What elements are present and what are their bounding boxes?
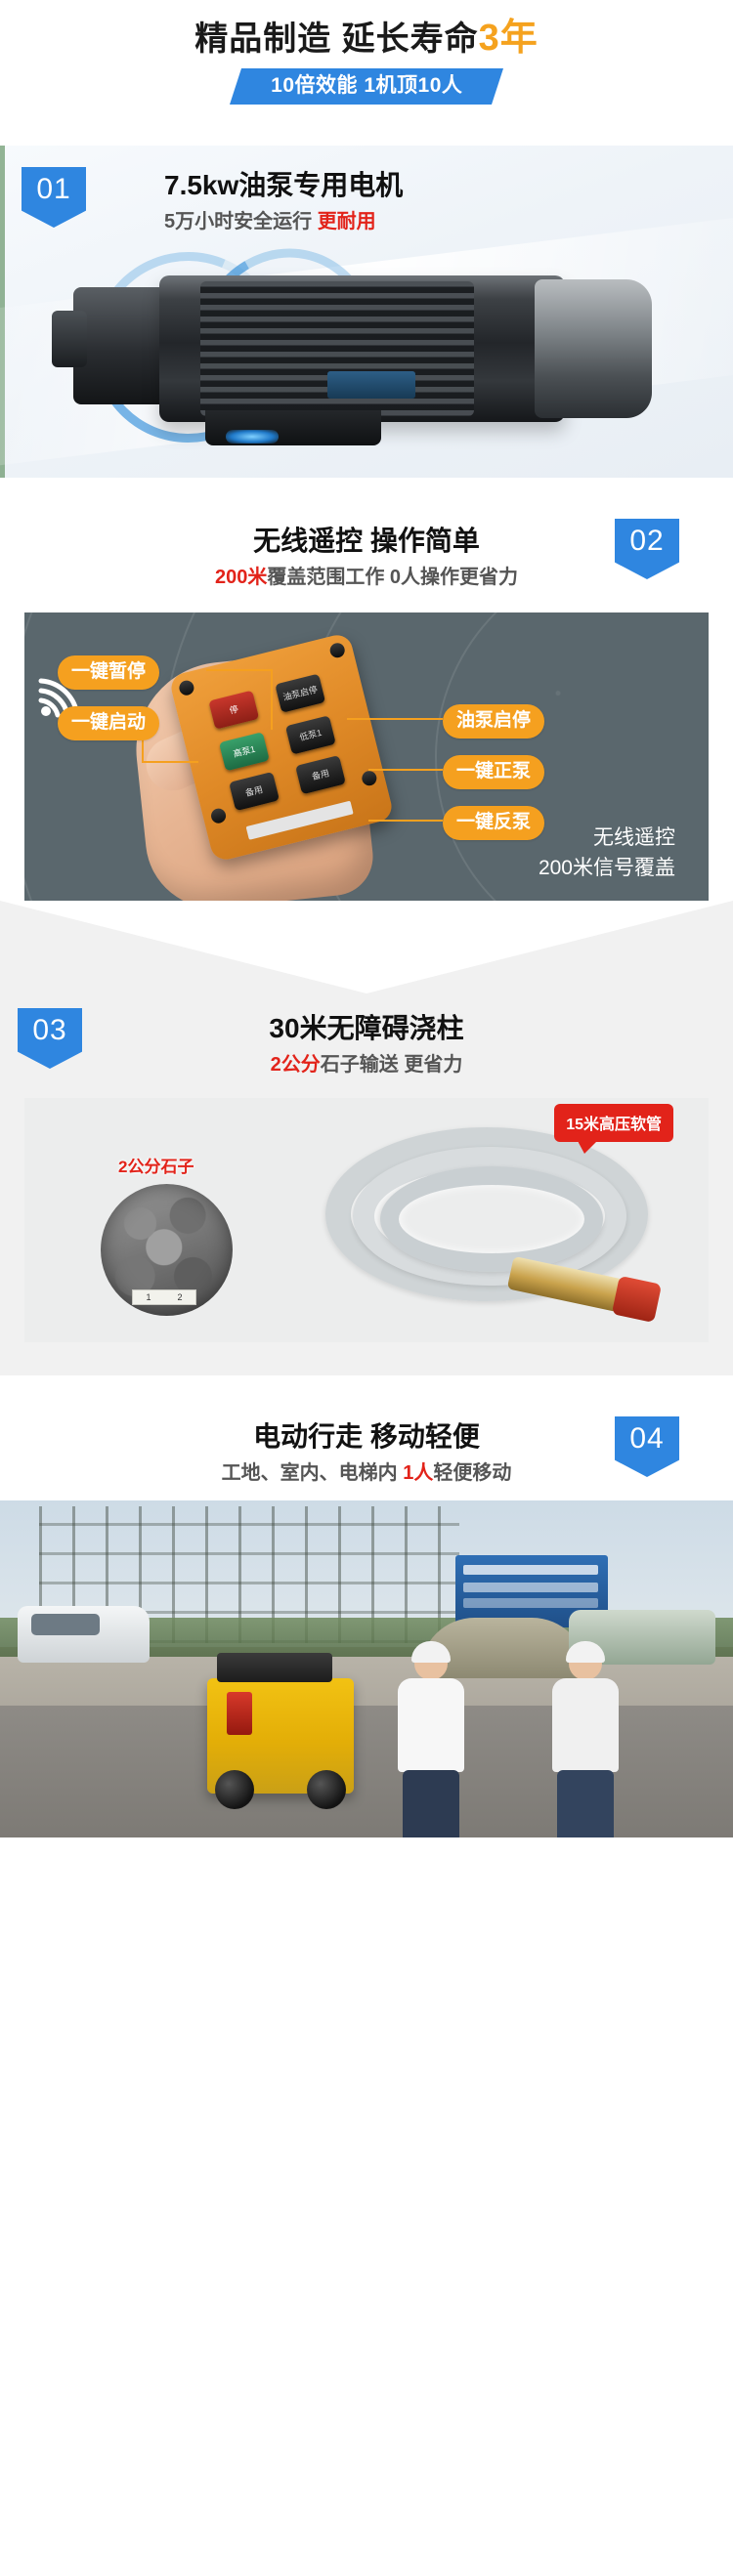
section-04-subtitle: 工地、室内、电梯内 1人轻便移动: [222, 1458, 512, 1488]
section-03-text: 30米无障碍浇柱 2公分石子输送 更省力: [269, 1008, 463, 1079]
section-03-header: 03 30米无障碍浇柱 2公分石子输送 更省力: [0, 1008, 733, 1092]
section-03-badge: 03: [18, 1008, 82, 1069]
section-03-subtitle: 2公分石子输送 更省力: [269, 1050, 463, 1079]
section-02-title: 无线遥控 操作简单: [215, 523, 518, 560]
motor-illustration: [34, 238, 699, 468]
remote-button-start[interactable]: 高泵1: [219, 732, 270, 771]
remote-button-spare-1[interactable]: 备用: [229, 772, 280, 811]
leader-line-fwd: [368, 769, 443, 771]
label-stone-size: 2公分石子: [118, 1153, 194, 1177]
section-01-sub-red: 更耐用: [318, 211, 376, 232]
header-banner: 10倍效能 1机顶10人: [230, 68, 503, 105]
ruler-mark-2: 2: [177, 1292, 182, 1302]
header-banner-label: 10倍效能 1机顶10人: [271, 74, 462, 98]
section-03-hose: 03 30米无障碍浇柱 2公分石子输送 更省力 2公分石子 1 2 15米高压软…: [0, 1008, 733, 1375]
remote-button-spare-2[interactable]: 备用: [295, 755, 346, 794]
header-banner-wrap: 10倍效能 1机顶10人: [0, 68, 733, 105]
section-04-sub-gray-b: 轻便移动: [433, 1462, 511, 1484]
remote-button-stop[interactable]: 停: [208, 691, 259, 730]
section-04-badge: 04: [615, 1416, 679, 1477]
page-title: 精品制造 延长寿命3年: [0, 14, 733, 63]
leader-line-start: [142, 761, 198, 763]
machine-hopper: [217, 1653, 332, 1682]
remote-button-pump[interactable]: 油泵启停: [275, 674, 325, 713]
product-detail-page: 精品制造 延长寿命3年 10倍效能 1机顶10人 01 7.5kw油泵专用电机 …: [0, 0, 733, 2576]
section-02-photo: 停 油泵启停 高泵1 低泵1 备用 备用 一键暂停 一键启动 油泵启停 一键正泵…: [24, 612, 709, 901]
leader-line-pause: [206, 669, 273, 671]
label-start-button: 一键启动: [58, 706, 159, 740]
machine-wheel-right: [307, 1770, 346, 1809]
motor-nameplate: [327, 371, 415, 399]
section-04-text: 电动行走 移动轻便 工地、室内、电梯内 1人轻便移动: [222, 1418, 512, 1488]
leader-line-pump: [347, 718, 443, 720]
page-header: 精品制造 延长寿命3年 10倍效能 1机顶10人: [0, 0, 733, 105]
page-title-accent: 3年: [479, 18, 539, 59]
white-van-vehicle: [18, 1606, 150, 1663]
remote-button-low[interactable]: 低泵1: [285, 715, 336, 754]
leader-line-rev: [368, 820, 443, 822]
page-title-main: 精品制造 延长寿命: [194, 21, 478, 58]
worker-person-1: [389, 1647, 473, 1837]
motor-fan-cover: [535, 279, 652, 418]
photo-caption-line-1: 无线遥控: [539, 823, 675, 853]
motor-shaft-housing: [52, 311, 87, 367]
section-01-text: 7.5kw油泵专用电机 5万小时安全运行 更耐用: [164, 167, 403, 236]
remote-screw-tl-icon: [178, 679, 195, 697]
leader-line-pause-v: [271, 669, 273, 730]
section-01-motor: 01 7.5kw油泵专用电机 5万小时安全运行 更耐用: [0, 146, 733, 478]
section-04-sub-gray-a: 工地、室内、电梯内: [222, 1462, 404, 1484]
motor-led-glow-icon: [226, 430, 279, 443]
section-02-badge: 02: [615, 519, 679, 579]
worker-1-legs: [403, 1770, 459, 1837]
section-02-remote: 无线遥控 操作简单 200米覆盖范围工作 0人操作更省力 02: [0, 523, 733, 901]
hose-coil-inner: [380, 1166, 603, 1272]
section-03-sub-gray: 石子输送 更省力: [321, 1054, 463, 1076]
worker-1-body: [398, 1678, 464, 1772]
worker-2-body: [552, 1678, 619, 1772]
section-01-sub-gray: 5万小时安全运行: [164, 211, 318, 232]
section-01-badge: 01: [22, 167, 86, 228]
section-04-header: 电动行走 移动轻便 工地、室内、电梯内 1人轻便移动 04: [0, 1418, 733, 1500]
section-03-photo: 2公分石子 1 2 15米高压软管: [24, 1098, 709, 1342]
concrete-pump-machine: [207, 1678, 354, 1794]
section-03-sub-red: 2公分: [271, 1054, 321, 1076]
remote-screw-br-icon: [361, 770, 378, 787]
photo-caption-line-2: 200米信号覆盖: [539, 853, 675, 883]
ruler-mark-1: 1: [146, 1292, 151, 1302]
section-02-subtitle: 200米覆盖范围工作 0人操作更省力: [215, 563, 518, 592]
label-pump-toggle: 油泵启停: [443, 704, 544, 739]
section-04-title: 电动行走 移动轻便: [222, 1418, 512, 1456]
section-01-header: 01 7.5kw油泵专用电机 5万小时安全运行 更耐用: [22, 167, 403, 236]
section-02-sub-gray: 覆盖范围工作 0人操作更省力: [267, 567, 518, 588]
machine-control-panel: [227, 1692, 252, 1735]
section-04-sub-red: 1人: [403, 1462, 433, 1484]
ruler-scale: 1 2: [132, 1289, 196, 1305]
remote-screw-bl-icon: [209, 807, 227, 824]
worker-person-2: [543, 1647, 627, 1837]
section-02-header: 无线遥控 操作简单 200米覆盖范围工作 0人操作更省力 02: [0, 523, 733, 599]
label-hose-length: 15米高压软管: [554, 1104, 673, 1142]
section-04-mobility: 电动行走 移动轻便 工地、室内、电梯内 1人轻便移动 04: [0, 1375, 733, 1837]
section-02-sub-red: 200米: [215, 567, 267, 588]
chevron-divider: [0, 901, 733, 1008]
remote-screw-tr-icon: [328, 642, 346, 659]
section-04-photo: [0, 1500, 733, 1837]
section-01-subtitle: 5万小时安全运行 更耐用: [164, 207, 403, 236]
section-01-title: 7.5kw油泵专用电机: [164, 167, 403, 204]
label-pump-reverse: 一键反泵: [443, 806, 544, 840]
high-pressure-hose-image: [306, 1116, 709, 1329]
machine-wheel-left: [215, 1770, 254, 1809]
section-02-photo-caption: 无线遥控 200米信号覆盖: [539, 823, 675, 883]
label-pause-button: 一键暂停: [58, 655, 159, 690]
worker-2-legs: [557, 1770, 614, 1837]
section-02-text: 无线遥控 操作简单 200米覆盖范围工作 0人操作更省力: [215, 523, 518, 592]
label-pump-forward: 一键正泵: [443, 755, 544, 789]
section-03-title: 30米无障碍浇柱: [269, 1010, 463, 1047]
